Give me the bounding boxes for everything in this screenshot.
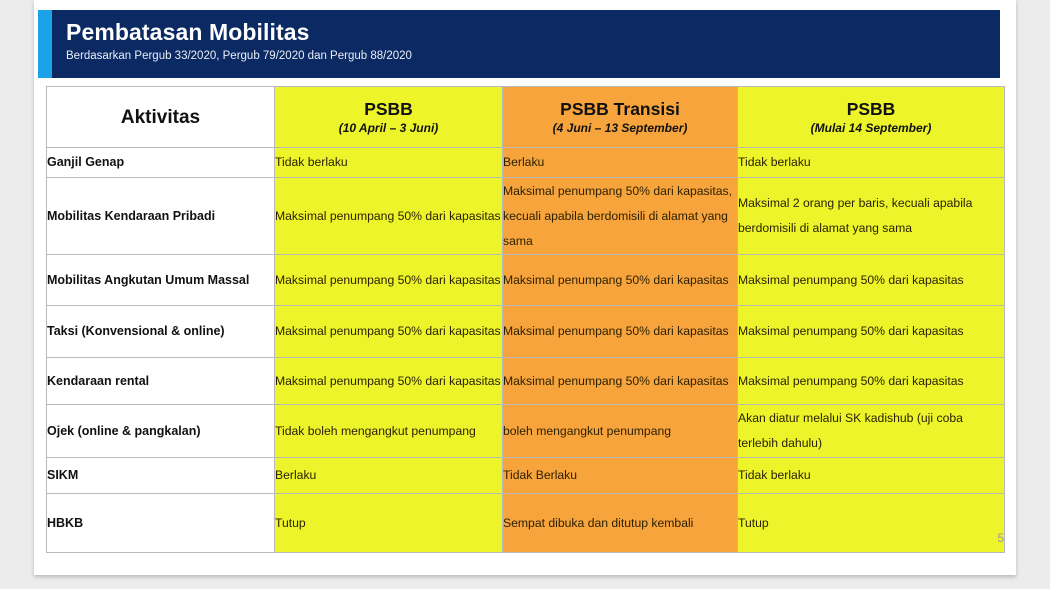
cell-kendaraan-rental-transisi: Maksimal penumpang 50% dari kapasitas (503, 358, 738, 405)
column-header-psbb-1-label: PSBB (275, 99, 502, 120)
cell-sikm-psbb2: Tidak berlaku (738, 458, 1005, 494)
cell-mobilitas-kendaraan-pribadi-transisi: Maksimal penumpang 50% dari kapasitas, k… (503, 178, 738, 255)
header-accent-bar (38, 10, 52, 78)
column-header-aktivitas: Aktivitas (47, 87, 275, 148)
row-label-ojek: Ojek (online & pangkalan) (47, 405, 275, 458)
table-header: Aktivitas PSBB (10 April – 3 Juni) PSBB … (47, 87, 1005, 148)
table-row: HBKB Tutup Sempat dibuka dan ditutup kem… (47, 494, 1005, 553)
cell-ganjil-genap-psbb2: Tidak berlaku (738, 148, 1005, 178)
mobility-restriction-table: Aktivitas PSBB (10 April – 3 Juni) PSBB … (46, 86, 1005, 553)
cell-taksi-psbb2: Maksimal penumpang 50% dari kapasitas (738, 306, 1005, 358)
table-body: Ganjil Genap Tidak berlaku Berlaku Tidak… (47, 148, 1005, 553)
cell-hbkb-psbb2: Tutup (738, 494, 1005, 553)
cell-sikm-transisi: Tidak Berlaku (503, 458, 738, 494)
header-text-block: Pembatasan Mobilitas Berdasarkan Pergub … (52, 10, 1000, 78)
table-header-row: Aktivitas PSBB (10 April – 3 Juni) PSBB … (47, 87, 1005, 148)
cell-mobilitas-angkutan-umum-massal-transisi: Maksimal penumpang 50% dari kapasitas (503, 255, 738, 306)
cell-taksi-psbb1: Maksimal penumpang 50% dari kapasitas (275, 306, 503, 358)
cell-mobilitas-angkutan-umum-massal-psbb2: Maksimal penumpang 50% dari kapasitas (738, 255, 1005, 306)
column-header-psbb-1-dates: (10 April – 3 Juni) (275, 120, 502, 136)
column-header-aktivitas-label: Aktivitas (47, 107, 274, 128)
row-label-sikm: SIKM (47, 458, 275, 494)
table-row: Mobilitas Angkutan Umum Massal Maksimal … (47, 255, 1005, 306)
column-header-psbb-transisi-dates: (4 Juni – 13 September) (503, 120, 737, 136)
cell-ojek-psbb1: Tidak boleh mengangkut penumpang (275, 405, 503, 458)
table-row: Ganjil Genap Tidak berlaku Berlaku Tidak… (47, 148, 1005, 178)
cell-mobilitas-kendaraan-pribadi-psbb2: Maksimal 2 orang per baris, kecuali apab… (738, 178, 1005, 255)
column-header-psbb-transisi-label: PSBB Transisi (503, 99, 737, 120)
cell-ganjil-genap-transisi: Berlaku (503, 148, 738, 178)
cell-hbkb-psbb1: Tutup (275, 494, 503, 553)
column-header-psbb-1: PSBB (10 April – 3 Juni) (275, 87, 503, 148)
row-label-kendaraan-rental: Kendaraan rental (47, 358, 275, 405)
cell-kendaraan-rental-psbb1: Maksimal penumpang 50% dari kapasitas (275, 358, 503, 405)
page-number: 5 (997, 531, 1004, 545)
slide-canvas: Pembatasan Mobilitas Berdasarkan Pergub … (34, 0, 1016, 575)
row-label-mobilitas-angkutan-umum-massal: Mobilitas Angkutan Umum Massal (47, 255, 275, 306)
cell-sikm-psbb1: Berlaku (275, 458, 503, 494)
cell-mobilitas-kendaraan-pribadi-psbb1: Maksimal penumpang 50% dari kapasitas (275, 178, 503, 255)
table-row: SIKM Berlaku Tidak Berlaku Tidak berlaku (47, 458, 1005, 494)
slide-header-banner: Pembatasan Mobilitas Berdasarkan Pergub … (38, 10, 1000, 78)
cell-mobilitas-angkutan-umum-massal-psbb1: Maksimal penumpang 50% dari kapasitas (275, 255, 503, 306)
table-row: Taksi (Konvensional & online) Maksimal p… (47, 306, 1005, 358)
page-subtitle: Berdasarkan Pergub 33/2020, Pergub 79/20… (66, 48, 1000, 64)
column-header-psbb-2-label: PSBB (738, 99, 1004, 120)
cell-kendaraan-rental-psbb2: Maksimal penumpang 50% dari kapasitas (738, 358, 1005, 405)
page-title: Pembatasan Mobilitas (66, 19, 1000, 46)
table-row: Mobilitas Kendaraan Pribadi Maksimal pen… (47, 178, 1005, 255)
cell-ojek-transisi: boleh mengangkut penumpang (503, 405, 738, 458)
row-label-mobilitas-kendaraan-pribadi: Mobilitas Kendaraan Pribadi (47, 178, 275, 255)
column-header-psbb-transisi: PSBB Transisi (4 Juni – 13 September) (503, 87, 738, 148)
column-header-psbb-2-dates: (Mulai 14 September) (738, 120, 1004, 136)
row-label-ganjil-genap: Ganjil Genap (47, 148, 275, 178)
cell-ganjil-genap-psbb1: Tidak berlaku (275, 148, 503, 178)
mobility-table-wrapper: Aktivitas PSBB (10 April – 3 Juni) PSBB … (46, 86, 1004, 553)
column-header-psbb-2: PSBB (Mulai 14 September) (738, 87, 1005, 148)
cell-hbkb-transisi: Sempat dibuka dan ditutup kembali (503, 494, 738, 553)
cell-taksi-transisi: Maksimal penumpang 50% dari kapasitas (503, 306, 738, 358)
cell-ojek-psbb2: Akan diatur melalui SK kadishub (uji cob… (738, 405, 1005, 458)
row-label-taksi: Taksi (Konvensional & online) (47, 306, 275, 358)
table-row: Ojek (online & pangkalan) Tidak boleh me… (47, 405, 1005, 458)
table-row: Kendaraan rental Maksimal penumpang 50% … (47, 358, 1005, 405)
row-label-hbkb: HBKB (47, 494, 275, 553)
